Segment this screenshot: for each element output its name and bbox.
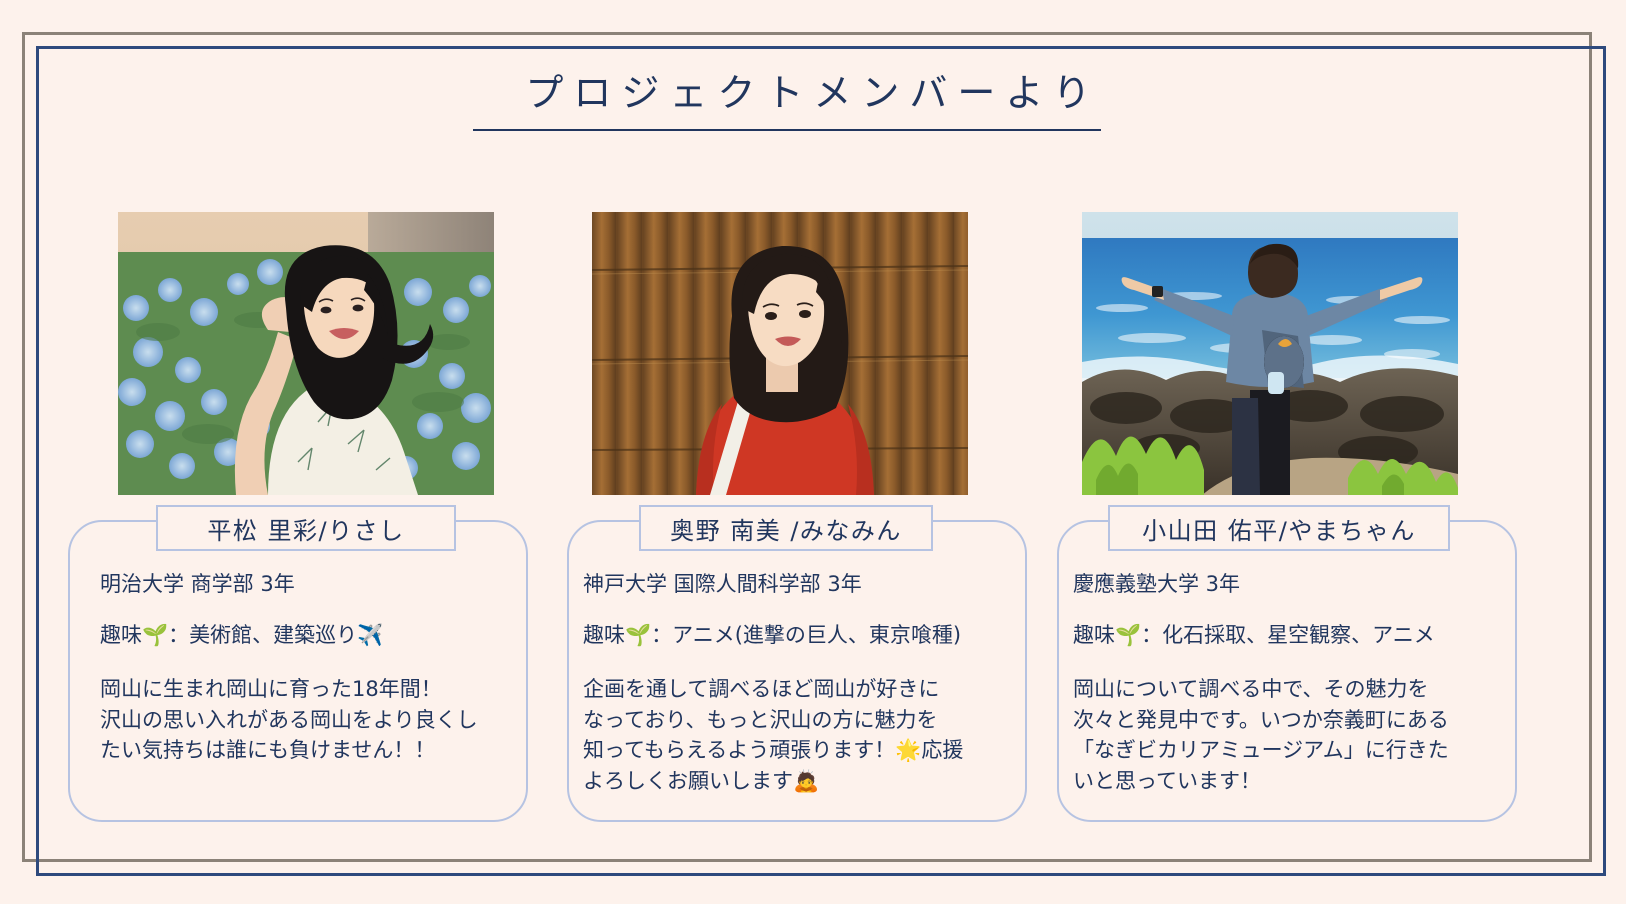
member-bio-text-2: 神戸大学 国際人間科学部 3年 趣味🌱：アニメ(進撃の巨人、東京喰種) 企画を通… [583,572,963,796]
member-bio-text-1: 明治大学 商学部 3年 趣味🌱：美術館、建築巡り✈️ 岡山に生まれ岡山に育った1… [100,572,478,766]
member-name-2: 奥野 南美 /みなみん [670,511,902,546]
member-message-3: 岡山について調べる中で、その魅力を 次々と発見中です。いつか奈義町にある 「なぎ… [1073,674,1449,796]
member-name-1: 平松 里彩/りさし [207,511,404,546]
member-hobby-2: 趣味🌱：アニメ(進撃の巨人、東京喰種) [583,623,963,648]
member-message-2: 企画を通して調べるほど岡山が好きに なっており、もっと沢山の方に魅力を 知っても… [583,674,963,796]
member-message-1: 岡山に生まれ岡山に育った18年間！ 沢山の思い入れがある岡山をより良くし たい気… [100,674,478,765]
member-list: 平松 里彩/りさし [0,212,1626,832]
member-hobby-1: 趣味🌱：美術館、建築巡り✈️ [100,623,478,648]
member-name-badge-2: 奥野 南美 /みなみん [639,505,933,551]
slide-root: プロジェクトメンバーより [0,0,1626,904]
member-school-2: 神戸大学 国際人間科学部 3年 [583,572,963,597]
portrait-flowers-illustration [118,212,494,495]
page-title: プロジェクトメンバーより [0,62,1626,117]
member-name-badge-3: 小山田 佑平/やまちゃん [1108,505,1450,551]
member-name-3: 小山田 佑平/やまちゃん [1142,511,1416,546]
portrait-seaside-illustration [1082,212,1458,495]
title-underline [473,129,1101,131]
member-photo-1 [118,212,494,495]
member-school-3: 慶應義塾大学 3年 [1073,572,1449,597]
member-name-badge-1: 平松 里彩/りさし [156,505,456,551]
member-school-1: 明治大学 商学部 3年 [100,572,478,597]
portrait-bamboo-illustration [592,212,968,495]
member-hobby-3: 趣味🌱：化石採取、星空観察、アニメ [1073,623,1449,648]
member-photo-3 [1082,212,1458,495]
member-bio-text-3: 慶應義塾大学 3年 趣味🌱：化石採取、星空観察、アニメ 岡山について調べる中で、… [1073,572,1449,796]
page-title-text: プロジェクトメンバーより [525,71,1100,115]
member-photo-2 [592,212,968,495]
